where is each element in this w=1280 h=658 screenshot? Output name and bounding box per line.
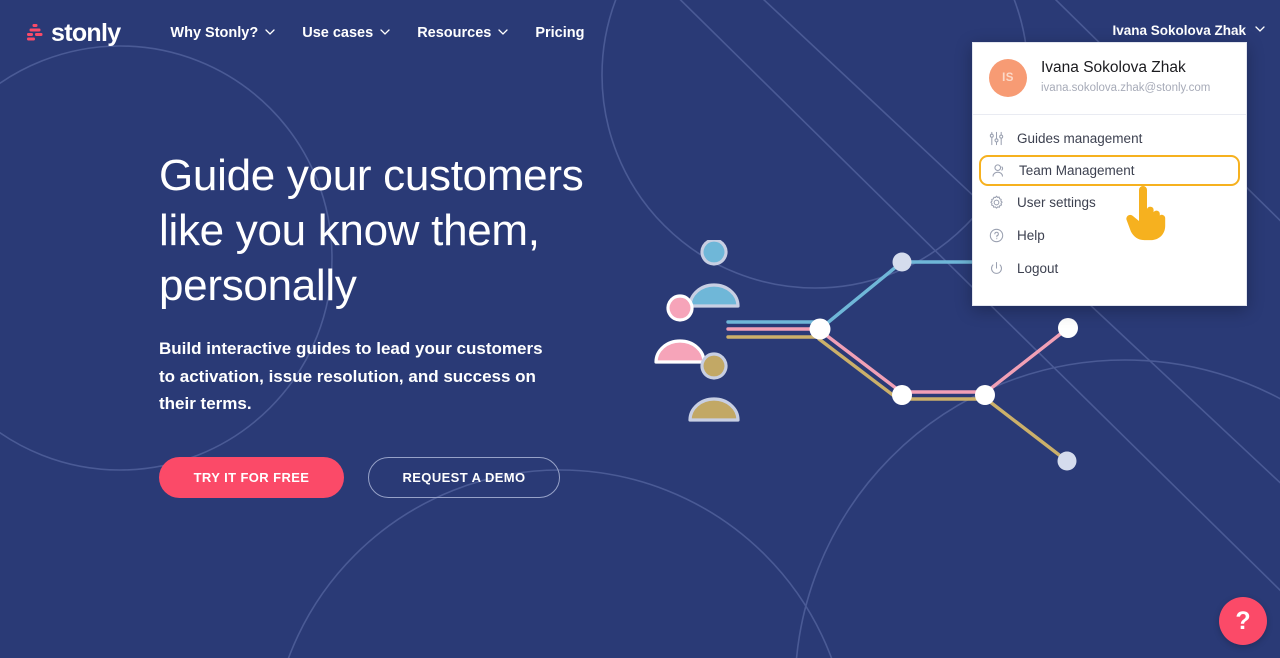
sliders-icon — [989, 131, 1004, 146]
chevron-down-icon — [265, 27, 274, 36]
menu-item-logout[interactable]: Logout — [973, 252, 1246, 285]
menu-item-guides-management[interactable]: Guides management — [973, 122, 1246, 155]
chevron-down-icon — [1255, 24, 1264, 33]
user-menu-list: Guides management Team Management — [973, 115, 1246, 285]
try-it-for-free-button[interactable]: TRY IT FOR FREE — [159, 457, 344, 498]
user-identity-text: Ivana Sokolova Zhak ivana.sokolova.zhak@… — [1041, 58, 1210, 97]
question-mark-icon: ? — [1235, 607, 1250, 636]
avatar: IS — [989, 59, 1027, 97]
menu-item-label: Logout — [1017, 261, 1058, 276]
nav-item-use-cases[interactable]: Use cases — [288, 19, 403, 47]
page-title: Guide your customers like you know them,… — [159, 148, 719, 313]
menu-item-label: Team Management — [1019, 163, 1135, 178]
user-identity-header: IS Ivana Sokolova Zhak ivana.sokolova.zh… — [973, 43, 1246, 115]
menu-item-label: User settings — [1017, 195, 1096, 210]
logo-text: stonly — [51, 21, 120, 46]
nav-item-pricing[interactable]: Pricing — [521, 19, 598, 47]
user-menu-trigger-label: Ivana Sokolova Zhak — [1112, 23, 1246, 38]
menu-item-user-settings[interactable]: User settings — [973, 186, 1246, 219]
person-icon — [991, 163, 1006, 178]
user-dropdown-panel: IS Ivana Sokolova Zhak ivana.sokolova.zh… — [972, 42, 1247, 306]
menu-item-label: Guides management — [1017, 131, 1142, 146]
user-email: ivana.sokolova.zhak@stonly.com — [1041, 80, 1210, 97]
nav-items: Why Stonly? Use cases Resources Pricing — [156, 19, 598, 47]
stonly-bars-icon — [26, 23, 44, 43]
user-menu-trigger[interactable]: Ivana Sokolova Zhak — [1112, 23, 1264, 38]
power-icon — [989, 261, 1004, 276]
nav-item-label: Pricing — [535, 25, 584, 41]
nav-item-resources[interactable]: Resources — [403, 19, 521, 47]
request-a-demo-button[interactable]: REQUEST A DEMO — [368, 457, 560, 498]
question-circle-icon — [989, 228, 1004, 243]
hero-section: Guide your customers like you know them,… — [159, 148, 719, 498]
menu-item-team-management[interactable]: Team Management — [979, 155, 1240, 186]
help-fab-button[interactable]: ? — [1219, 597, 1267, 645]
menu-item-label: Help — [1017, 228, 1045, 243]
nav-item-why-stonly[interactable]: Why Stonly? — [156, 19, 288, 47]
nav-item-label: Why Stonly? — [170, 25, 258, 41]
nav-item-label: Resources — [417, 25, 491, 41]
nav-item-label: Use cases — [302, 25, 373, 41]
chevron-down-icon — [380, 27, 389, 36]
hero-cta-group: TRY IT FOR FREE REQUEST A DEMO — [159, 457, 719, 498]
logo[interactable]: stonly — [26, 21, 120, 46]
chevron-down-icon — [498, 27, 507, 36]
hero-subtitle: Build interactive guides to lead your cu… — [159, 335, 719, 418]
menu-item-help[interactable]: Help — [973, 219, 1246, 252]
gear-icon — [989, 195, 1004, 210]
page-root: stonly Why Stonly? Use cases Resources — [0, 0, 1280, 658]
user-name: Ivana Sokolova Zhak — [1041, 58, 1210, 78]
